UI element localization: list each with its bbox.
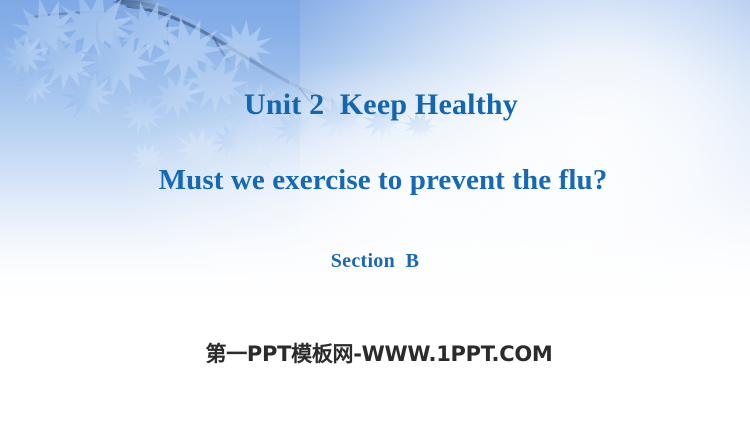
lesson-title: Must we exercise to prevent the flu? <box>8 166 750 195</box>
unit-title: Unit 2 Keep Healthy <box>6 90 750 120</box>
presentation-slide: Unit 2 Keep Healthy Must we exercise to … <box>0 0 750 422</box>
section-label: Section B <box>0 251 750 271</box>
watermark-text: 第一PPT模板网-WWW.1PPT.COM <box>4 344 750 365</box>
